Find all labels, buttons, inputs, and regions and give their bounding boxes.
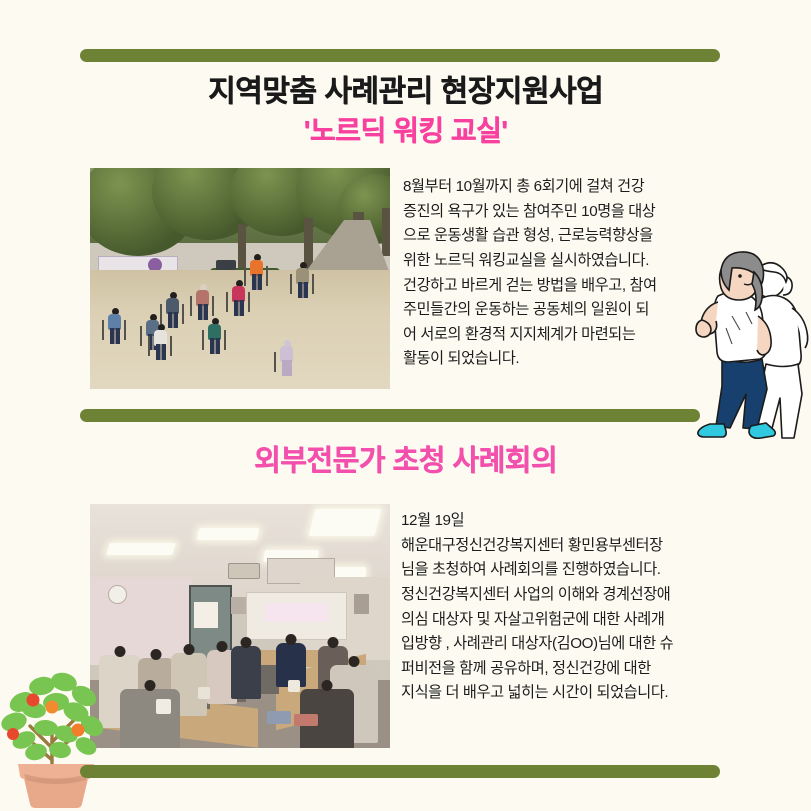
expert-meeting-description: 12월 19일 해운대구정신건강복지센터 황민용부센터장 님을 초청하여 사례회…: [401, 509, 713, 706]
middle-divider: [80, 409, 700, 422]
top-divider: [80, 49, 720, 62]
poster-canvas: 지역맞춤 사례관리 현장지원사업 '노르딕 워킹 교실': [0, 0, 811, 811]
meeting-photo-scene: [90, 504, 390, 748]
potted-tree-illustration: [0, 652, 122, 811]
nordic-photo-scene: [90, 168, 390, 389]
expert-meeting-heading: 외부전문가 초청 사례회의: [0, 437, 811, 479]
nordic-walking-photo: [90, 168, 390, 389]
bottom-divider: [80, 765, 720, 778]
nordic-walking-description: 8월부터 10월까지 총 6회기에 걸쳐 건강 증진의 욕구가 있는 참여주민 …: [403, 175, 705, 372]
page-title: 지역맞춤 사례관리 현장지원사업 '노르딕 워킹 교실': [0, 74, 811, 147]
walking-people-illustration: [688, 246, 811, 442]
title-sub-text: '노르딕 워킹 교실': [0, 114, 811, 147]
title-main-text: 지역맞춤 사례관리 현장지원사업: [0, 74, 811, 109]
expert-meeting-photo: [90, 504, 390, 748]
